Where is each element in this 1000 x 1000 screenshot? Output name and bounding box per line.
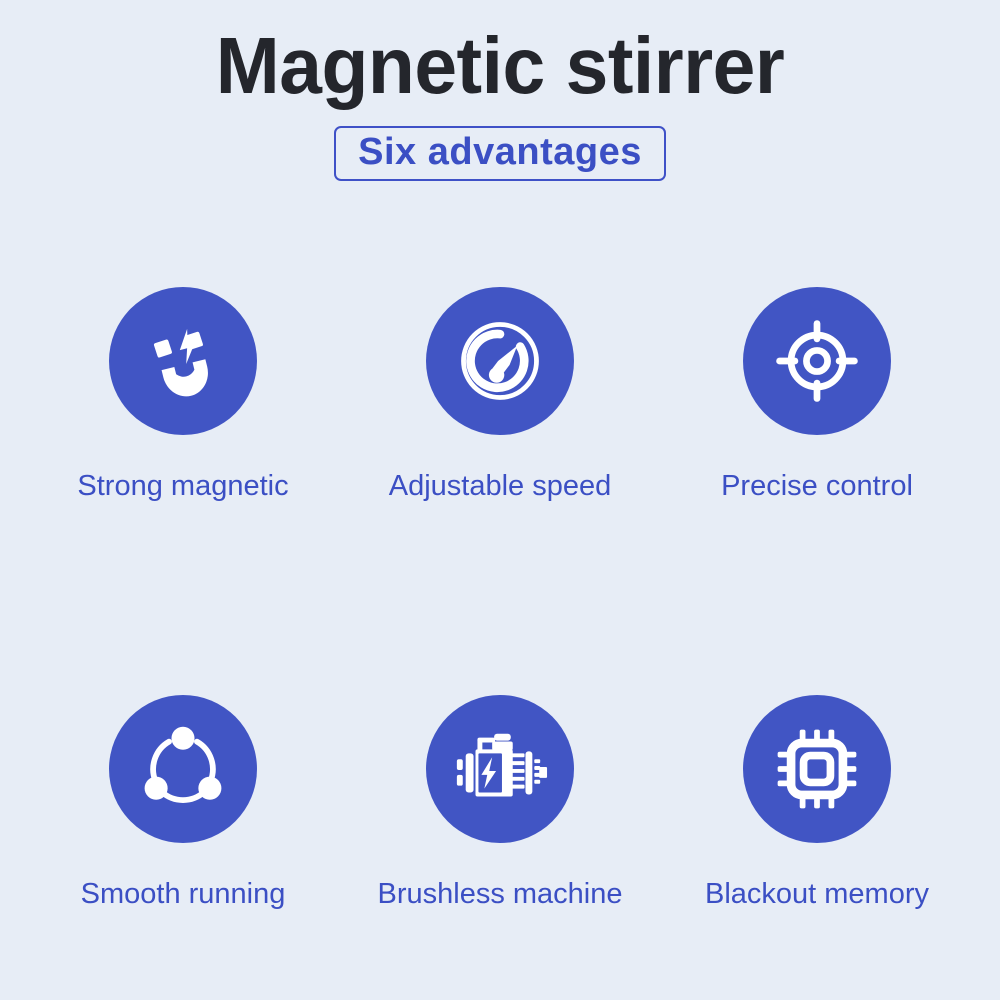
electric-motor-icon: [451, 720, 549, 818]
advantage-item-precise-control[interactable]: Precise control: [672, 287, 962, 503]
advantage-icon-badge: [426, 695, 574, 843]
advantage-item-blackout-memory[interactable]: Blackout memory: [672, 695, 962, 911]
advantage-label: Brushless machine: [378, 879, 623, 911]
advantage-label: Precise control: [721, 471, 913, 503]
rotation-nodes-icon: [135, 721, 231, 817]
subtitle-badge: Six advantages: [334, 126, 666, 181]
advantage-icon-badge: [743, 287, 891, 435]
advantage-item-strong-magnetic[interactable]: Strong magnetic: [38, 287, 328, 503]
advantage-item-brushless-machine[interactable]: Brushless machine: [355, 695, 645, 911]
advantage-item-adjustable-speed[interactable]: Adjustable speed: [355, 287, 645, 503]
advantages-row-top: Strong magnetic Adjustable speed: [0, 287, 1000, 503]
advantage-label: Adjustable speed: [389, 471, 612, 503]
magnet-icon: [136, 314, 230, 408]
advantage-label: Strong magnetic: [77, 471, 288, 503]
advantage-item-smooth-running[interactable]: Smooth running: [38, 695, 328, 911]
advantages-row-bottom: Smooth running: [0, 695, 1000, 911]
cpu-chip-icon: [769, 721, 865, 817]
page-title: Magnetic stirrer: [20, 0, 980, 106]
advantage-icon-badge: [743, 695, 891, 843]
advantage-icon-badge: [109, 287, 257, 435]
header: Magnetic stirrer Six advantages: [0, 0, 1000, 181]
subtitle-text: Six advantages: [358, 131, 642, 173]
advantage-icon-badge: [426, 287, 574, 435]
speedometer-icon: [452, 313, 548, 409]
advantage-icon-badge: [109, 695, 257, 843]
advantage-label: Blackout memory: [705, 879, 929, 911]
advantage-label: Smooth running: [81, 879, 286, 911]
infographic-page: Magnetic stirrer Six advantages: [0, 0, 1000, 1000]
crosshair-target-icon: [769, 313, 865, 409]
subtitle-container: Six advantages: [0, 126, 1000, 181]
